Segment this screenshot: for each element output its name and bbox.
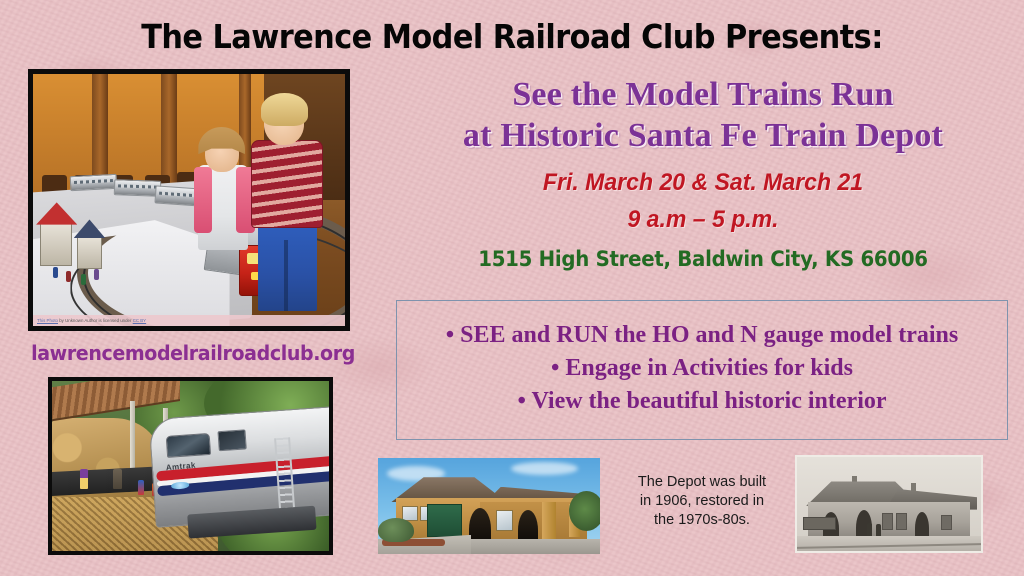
historic-window-2	[896, 513, 907, 530]
depot-caption: The Depot was built in 1906, restored in…	[612, 473, 792, 530]
bullet-item-1: • SEE and RUN the HO and N gauge model t…	[407, 322, 997, 349]
depot-caption-line-3: the 1970s-80s.	[612, 511, 792, 530]
village-scenery	[36, 213, 130, 299]
event-dates: Fri. March 20 & Sat. March 21	[404, 169, 1001, 197]
figure-seated	[113, 469, 122, 489]
bullet-item-2: • Engage in Activities for kids	[407, 355, 997, 382]
activities-box: • SEE and RUN the HO and N gauge model t…	[396, 300, 1008, 440]
event-address: 1515 High Street, Baldwin City, KS 66006	[411, 247, 996, 271]
baggage-cart	[803, 517, 836, 530]
photo-depot-restored-color	[378, 458, 600, 554]
boy-jeans	[258, 220, 317, 311]
figure-woman-purple	[80, 469, 88, 489]
cab-side-window	[217, 429, 246, 450]
event-details-column: See the Model Trains Run at Historic San…	[392, 74, 1014, 271]
depot-window-3	[496, 510, 514, 531]
historic-window-3	[941, 515, 952, 530]
boy-striped-shirt	[251, 140, 323, 228]
tree-right	[569, 491, 600, 531]
page-title: The Lawrence Model Railroad Club Present…	[41, 17, 983, 56]
village-figure-3	[81, 274, 86, 285]
amtrak-locomotive: Amtrak	[148, 405, 333, 527]
boy-hair	[261, 93, 308, 126]
depot-pillar-1	[542, 502, 555, 538]
depot-caption-line-1: The Depot was built	[612, 473, 792, 492]
headline-line-1: See the Model Trains Run	[392, 74, 1014, 115]
girl-jacket-left	[194, 167, 213, 233]
passenger-coach-1	[70, 174, 118, 192]
depot-caption-line-2: in 1906, restored in	[612, 492, 792, 511]
figure-child-blue	[138, 480, 144, 495]
photo-depot-historic-bw	[795, 455, 983, 553]
photo-credit: This Photo by Unknown Author is licensed…	[33, 315, 345, 326]
village-figure-1	[53, 267, 58, 278]
cab-windshield	[165, 433, 210, 458]
website-url[interactable]: lawrencemodelrailroadclub.org	[10, 341, 377, 365]
photo-children-model-layout: This Photo by Unknown Author is licensed…	[28, 69, 350, 331]
poster-canvas: The Lawrence Model Railroad Club Present…	[0, 0, 1024, 576]
photo-credit-license-link[interactable]: CC BY	[133, 318, 146, 323]
photo-credit-link[interactable]: This Photo	[37, 318, 58, 323]
headlight	[171, 481, 189, 489]
historic-window-1	[882, 513, 893, 530]
village-house-1	[40, 221, 72, 266]
bullet-item-3: • View the beautiful historic interior	[407, 388, 997, 415]
shrub-left	[378, 518, 414, 543]
depot-green-door	[427, 504, 463, 537]
village-figure-4	[94, 269, 99, 280]
village-figure-2	[66, 271, 71, 282]
village-roof-2	[74, 219, 106, 238]
event-hours: 9 a.m – 5 p.m.	[404, 206, 1001, 234]
kids-photo-scene	[33, 74, 345, 326]
headline-line-2: at Historic Santa Fe Train Depot	[392, 115, 1014, 156]
village-house-2	[77, 235, 101, 269]
photo-amtrak-locomotive: Amtrak	[48, 377, 333, 555]
photo-credit-text: by Unknown Author is licensed under	[58, 318, 133, 323]
